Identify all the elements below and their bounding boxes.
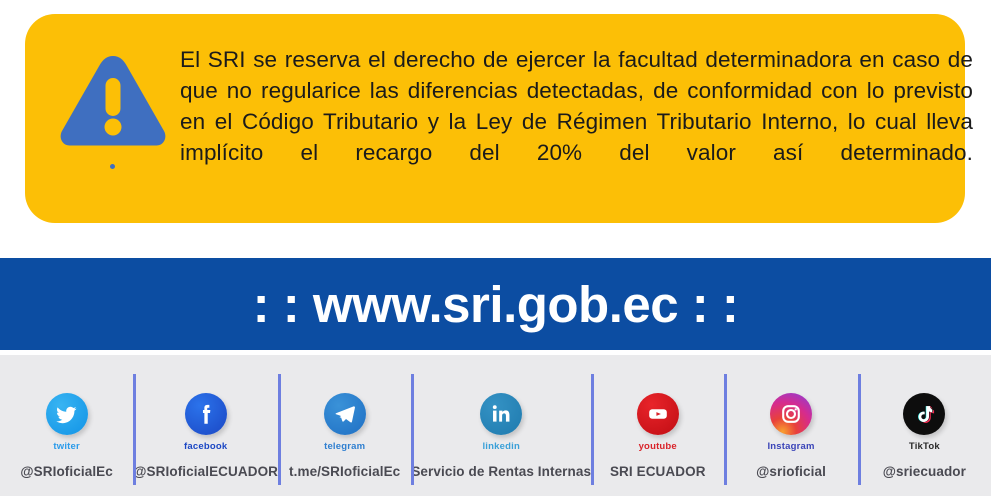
social-handle: Servicio de Rentas Internas bbox=[411, 464, 591, 479]
social-item-tiktok[interactable]: TikTok @sriecuador bbox=[858, 355, 991, 496]
social-item-twitter[interactable]: twiter @SRIoficialEc bbox=[0, 355, 133, 496]
linkedin-icon[interactable] bbox=[480, 393, 522, 435]
notice-text: El SRI se reserva el derecho de ejercer … bbox=[180, 44, 973, 199]
social-item-youtube[interactable]: youtube SRI ECUADOR bbox=[591, 355, 724, 496]
social-label: TikTok bbox=[909, 441, 940, 452]
tiktok-icon[interactable] bbox=[903, 393, 945, 435]
url-band: : : www.sri.gob.ec : : bbox=[0, 258, 991, 350]
social-label: facebook bbox=[184, 441, 227, 452]
notice-icon-wrap bbox=[50, 52, 175, 182]
social-footer: twiter @SRIoficialEc facebook @SRIoficia… bbox=[0, 355, 991, 496]
social-item-instagram[interactable]: Instagram @srioficial bbox=[724, 355, 857, 496]
social-label: telegram bbox=[324, 441, 365, 452]
social-label: linkedin bbox=[482, 441, 520, 452]
warning-triangle-icon bbox=[57, 52, 169, 150]
social-handle: @sriecuador bbox=[883, 464, 966, 479]
social-label: twiter bbox=[53, 441, 80, 452]
social-item-linkedin[interactable]: linkedin Servicio de Rentas Internas bbox=[411, 355, 591, 496]
social-label: youtube bbox=[639, 441, 677, 452]
page-root: El SRI se reserva el derecho de ejercer … bbox=[0, 0, 991, 496]
website-url[interactable]: : : www.sri.gob.ec : : bbox=[253, 275, 739, 334]
telegram-icon[interactable] bbox=[324, 393, 366, 435]
social-item-facebook[interactable]: facebook @SRIoficialECUADOR bbox=[133, 355, 278, 496]
social-label: Instagram bbox=[767, 441, 814, 452]
social-handle: @srioficial bbox=[756, 464, 826, 479]
facebook-icon[interactable] bbox=[185, 393, 227, 435]
social-item-telegram[interactable]: telegram t.me/SRIoficialEc bbox=[278, 355, 411, 496]
warning-accent-dot bbox=[110, 164, 115, 169]
instagram-icon[interactable] bbox=[770, 393, 812, 435]
notice-card: El SRI se reserva el derecho de ejercer … bbox=[25, 14, 965, 223]
social-handle: @SRIoficialECUADOR bbox=[133, 464, 278, 479]
twitter-icon[interactable] bbox=[46, 393, 88, 435]
social-handle: SRI ECUADOR bbox=[610, 464, 706, 479]
youtube-icon[interactable] bbox=[637, 393, 679, 435]
social-handle: @SRIoficialEc bbox=[20, 464, 113, 479]
social-handle: t.me/SRIoficialEc bbox=[289, 464, 400, 479]
